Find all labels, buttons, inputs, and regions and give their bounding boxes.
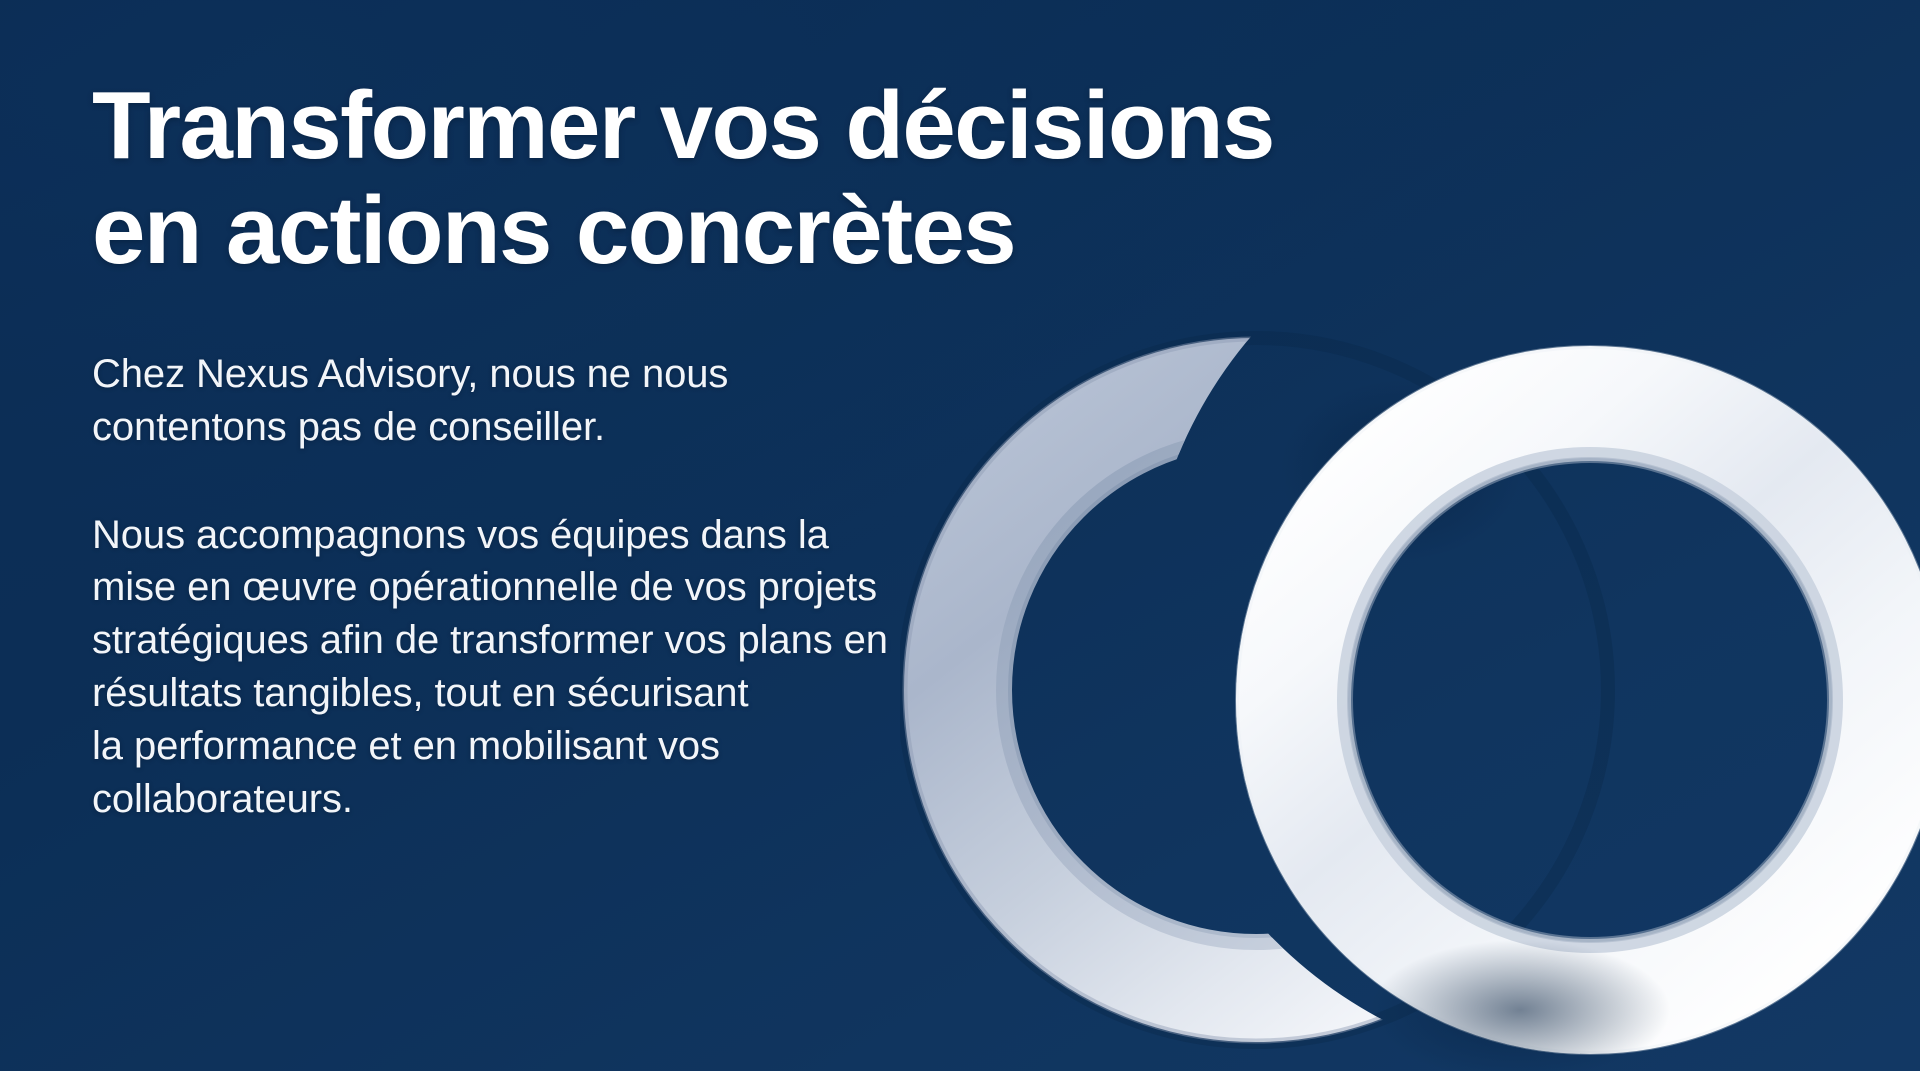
paragraph-2-line-3: stratégiques afin de transformer vos pla… [92, 614, 952, 667]
paragraph-1-line-1: Chez Nexus Advisory, nous ne nous [92, 348, 952, 401]
left-ring [904, 338, 1608, 1042]
body-copy: Chez Nexus Advisory, nous ne nous conten… [92, 348, 952, 825]
body-paragraph-2: Nous accompagnons vos équipes dans la mi… [92, 509, 952, 826]
text-column: Transformer vos décisions en actions con… [92, 0, 992, 1071]
paragraph-2-line-5: la performance et en mobilisant vos [92, 720, 952, 773]
page-title-line-2: en actions concrètes [92, 179, 1352, 284]
page-title: Transformer vos décisions en actions con… [92, 74, 1352, 283]
paragraph-1-line-2: contentons pas de conseiller. [92, 401, 952, 454]
ring-cross-shadow-bottom [1370, 940, 1670, 1071]
page-title-line-1: Transformer vos décisions [92, 74, 1352, 179]
right-ring-rear [1292, 402, 1888, 998]
slide-canvas: Transformer vos décisions en actions con… [0, 0, 1920, 1071]
ring-cross-shadow-top [1280, 380, 1520, 560]
paragraph-2-line-1: Nous accompagnons vos équipes dans la [92, 509, 952, 562]
paragraph-2-line-6: collaborateurs. [92, 773, 952, 826]
paragraph-2-line-4: résultats tangibles, tout en sécurisant [92, 667, 952, 720]
body-paragraph-1: Chez Nexus Advisory, nous ne nous conten… [92, 348, 952, 454]
right-ring [1237, 347, 1920, 1053]
paragraph-2-line-2: mise en œuvre opérationnelle de vos proj… [92, 561, 952, 614]
